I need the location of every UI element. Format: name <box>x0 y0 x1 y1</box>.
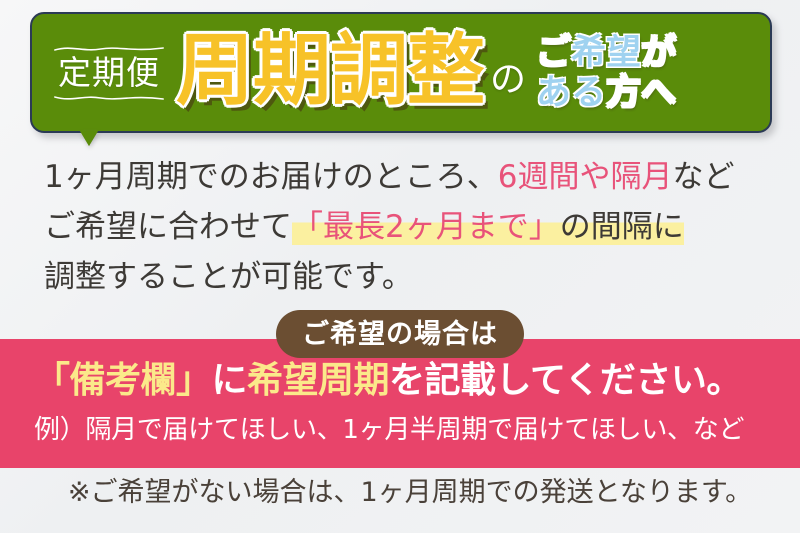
pink-example-text: 例）隔月で届けてほしい、1ヶ月半周期で届けてほしい、など <box>34 417 774 443</box>
body-seg-highlight: 「最長2ヶ月まで」 <box>292 209 560 245</box>
footer-note: ※ご希望がない場合は、1ヶ月周期での発送となります。 <box>40 479 780 506</box>
body-line-1: 1ヶ月周期でのお届けのところ、6週間や隔月など <box>44 152 774 202</box>
speech-bubble-tail-icon <box>80 131 98 146</box>
body-seg-accent: 6週間 <box>498 159 580 195</box>
header-subtitle-line-1: ご希望が <box>536 34 676 74</box>
wavy-rule-bottom-icon <box>54 94 164 102</box>
header-particle: の <box>490 62 526 98</box>
case-badge-label: ご希望の場合は <box>302 321 498 348</box>
pink-seg-accent: 「備考欄」 <box>34 360 212 401</box>
body-seg-highlight: 間隔 <box>591 209 653 245</box>
body-line-3: 調整することが可能です。 <box>44 252 774 302</box>
pink-seg-accent: 希望周期 <box>247 360 389 401</box>
subtitle-seg: ご <box>536 33 571 73</box>
body-seg-accent: 隔月 <box>610 159 672 195</box>
header-banner: 定期便 周期調整 の ご希望が ある方へ <box>30 12 772 133</box>
body-seg-highlight: に <box>653 209 684 245</box>
pink-callout-band: 「備考欄」に希望周期を記載してください。 例）隔月で届けてほしい、1ヶ月半周期で… <box>0 339 800 468</box>
body-seg: 1ヶ月周期でのお届けのところ、 <box>44 159 498 195</box>
subtitle-seg: ある <box>536 73 606 113</box>
pink-seg: に <box>212 360 248 401</box>
body-line-2: ご希望に合わせて「最長2ヶ月まで」の間隔に <box>44 202 774 252</box>
body-paragraph: 1ヶ月周期でのお届けのところ、6週間や隔月など ご希望に合わせて「最長2ヶ月まで… <box>44 152 774 302</box>
wavy-rule-top-icon <box>54 45 164 53</box>
subscription-badge: 定期便 <box>54 47 164 99</box>
subtitle-seg: が <box>641 33 676 73</box>
subscription-badge-label: 定期便 <box>58 56 160 89</box>
body-seg-highlight: の <box>560 209 591 245</box>
subtitle-seg: 方へ <box>606 73 676 113</box>
pink-headline: 「備考欄」に希望周期を記載してください。 <box>34 363 774 399</box>
body-seg-accent: や <box>579 159 610 195</box>
header-subtitle-line-2: ある方へ <box>536 74 676 114</box>
subtitle-seg: 希望 <box>571 33 641 73</box>
pink-seg: を記載してください。 <box>389 360 742 401</box>
body-seg: など <box>672 159 734 195</box>
body-seg: ご希望に合わせて <box>44 209 292 245</box>
header-main-title: 周期調整 <box>176 32 484 110</box>
case-badge: ご希望の場合は <box>276 310 524 358</box>
header-subtitle-block: ご希望が ある方へ <box>536 34 676 113</box>
